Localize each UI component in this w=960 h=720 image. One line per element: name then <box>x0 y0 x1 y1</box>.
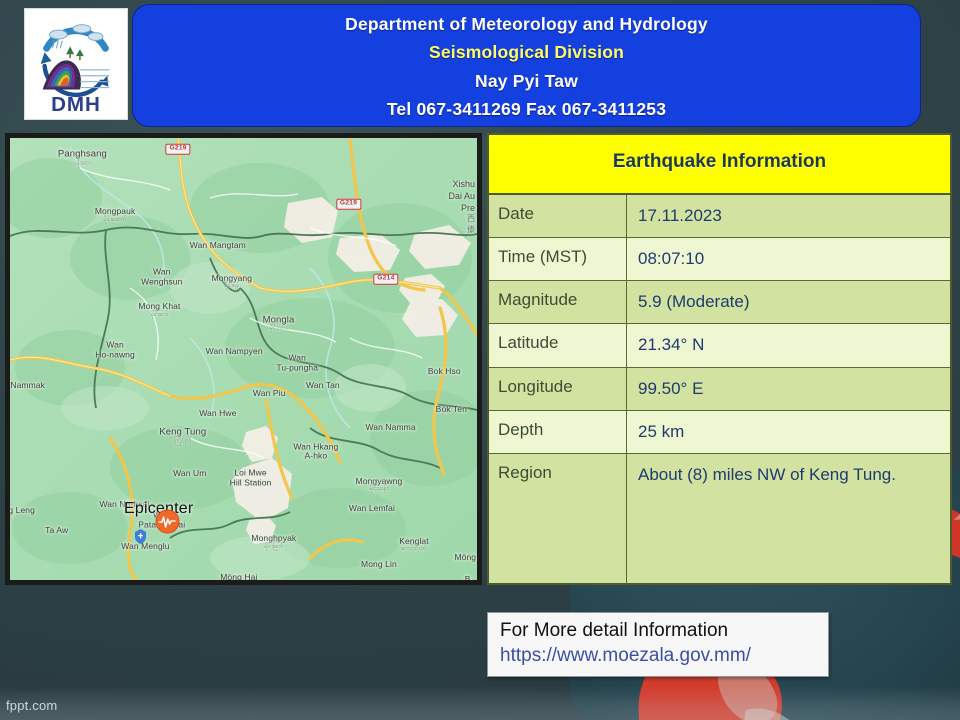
info-row-latitude: Latitude21.34° N <box>489 324 950 367</box>
info-row-magnitude: Magnitude5.9 (Moderate) <box>489 281 950 324</box>
info-table-body: Date17.11.2023Time (MST)08:07:10Magnitud… <box>489 195 950 583</box>
info-row-value: 21.34° N <box>627 324 950 366</box>
info-row-date: Date17.11.2023 <box>489 195 950 238</box>
road-shield: G219 <box>336 199 361 210</box>
svg-text:DMH: DMH <box>51 93 101 116</box>
header-banner: Department of Meteorology and Hydrology … <box>133 5 920 126</box>
info-row-label: Region <box>489 454 627 583</box>
info-row-depth: Depth 25 km <box>489 411 950 454</box>
background-bottom-sheen <box>0 686 960 720</box>
map-place-label: Wan Pai <box>281 584 314 585</box>
more-info-box[interactable]: For More detail Information https://www.… <box>487 612 829 677</box>
header-line-department: Department of Meteorology and Hydrology <box>345 10 708 38</box>
info-row-time-mst: Time (MST)08:07:10 <box>489 238 950 281</box>
map-label-china-region: Xishu Dai Au Pre 西 傣 <box>448 178 475 236</box>
info-row-region: RegionAbout (8) miles NW of Keng Tung. <box>489 454 950 583</box>
info-row-label: Magnitude <box>489 281 627 323</box>
road-shield: G219 <box>165 144 190 155</box>
more-info-text: For More detail Information <box>500 619 818 644</box>
info-row-value: 17.11.2023 <box>627 195 950 237</box>
info-table-title: Earthquake Information <box>489 135 950 195</box>
fppt-watermark: fppt.com <box>6 698 57 713</box>
dmh-logo: DMH <box>24 8 128 120</box>
info-row-label: Time (MST) <box>489 238 627 280</box>
header-line-contact: Tel 067-3411269 Fax 067-3411253 <box>387 95 666 123</box>
info-row-value: 99.50° E <box>627 368 950 410</box>
road-shield: G214 <box>373 274 398 285</box>
map-canvas <box>10 138 477 580</box>
more-info-link[interactable]: https://www.moezala.gov.mm/ <box>500 644 818 669</box>
info-row-value: About (8) miles NW of Keng Tung. <box>627 454 950 583</box>
map-poi-icon[interactable] <box>134 529 147 544</box>
info-row-label: Depth <box>489 411 627 453</box>
info-row-label: Latitude <box>489 324 627 366</box>
info-row-value: 25 km <box>627 411 950 453</box>
epicenter-map[interactable]: G219 G219 G214 Xishu Dai Au Pre 西 傣 Pang… <box>5 133 482 585</box>
earthquake-info-table: Earthquake Information Date17.11.2023Tim… <box>487 133 952 585</box>
info-row-longitude: Longitude99.50° E <box>489 368 950 411</box>
header-line-city: Nay Pyi Taw <box>475 67 578 95</box>
header-line-division: Seismological Division <box>429 38 624 66</box>
info-row-value: 5.9 (Moderate) <box>627 281 950 323</box>
info-row-label: Longitude <box>489 368 627 410</box>
info-row-label: Date <box>489 195 627 237</box>
epicenter-marker-icon[interactable] <box>155 509 180 534</box>
info-row-value: 08:07:10 <box>627 238 950 280</box>
